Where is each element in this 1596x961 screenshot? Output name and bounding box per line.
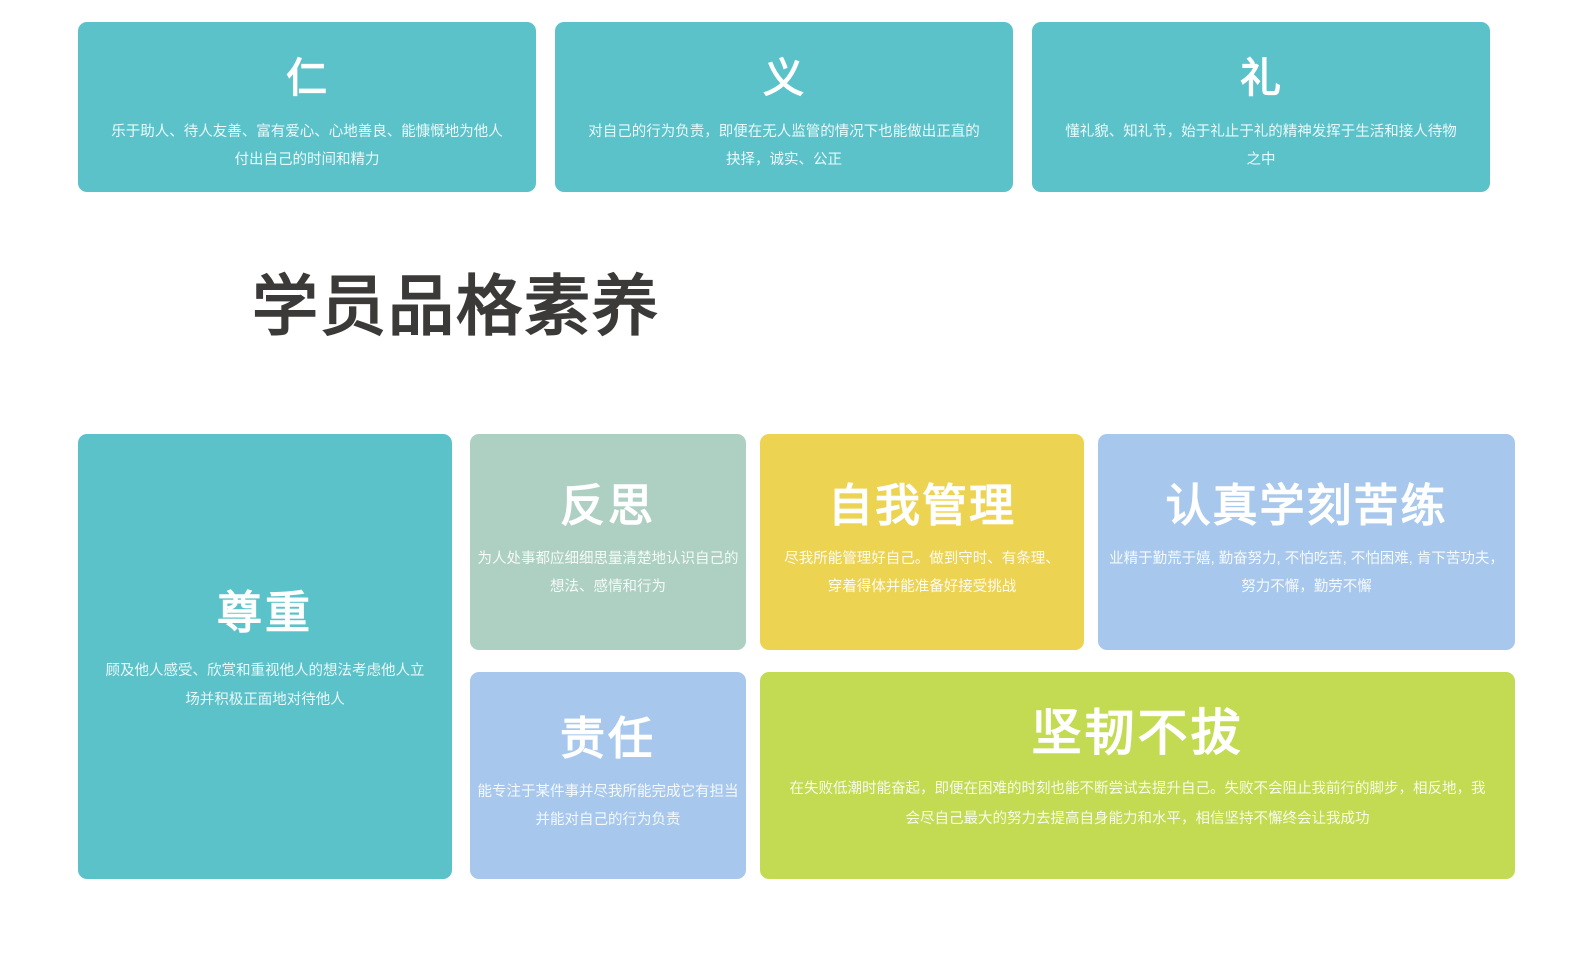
- quality-card-grid: 尊重 顾及他人感受、欣赏和重视他人的想法考虑他人立场并积极正面地对待他人 反思 …: [78, 434, 1515, 879]
- quality-description: 能专注于某件事并尽我所能完成它有担当并能对自己的行为负责: [477, 778, 739, 834]
- quality-title: 认真学刻苦练: [1165, 483, 1447, 528]
- quality-title: 责任: [560, 716, 656, 761]
- quality-description: 在失败低潮时能奋起，即便在困难的时刻也能不断尝试去提升自己。失败不会阻止我前行的…: [788, 774, 1488, 834]
- virtue-title: 礼: [1240, 58, 1282, 99]
- virtue-description: 乐于助人、待人友善、富有爱心、心地善良、能慷慨地为他人付出自己的时间和精力: [109, 118, 505, 174]
- quality-title: 反思: [560, 483, 656, 528]
- quality-card-perseverance[interactable]: 坚韧不拔 在失败低潮时能奋起，即便在困难的时刻也能不断尝试去提升自己。失败不会阻…: [760, 672, 1515, 879]
- quality-description: 为人处事都应细细思量清楚地认识自己的想法、感情和行为: [477, 545, 739, 601]
- quality-card-respect[interactable]: 尊重 顾及他人感受、欣赏和重视他人的想法考虑他人立场并积极正面地对待他人: [78, 434, 452, 879]
- virtue-title: 仁: [286, 58, 328, 99]
- quality-title: 尊重: [217, 590, 313, 635]
- poster-root: 仁 乐于助人、待人友善、富有爱心、心地善良、能慷慨地为他人付出自己的时间和精力 …: [0, 0, 1596, 961]
- quality-description: 业精于勤荒于嬉, 勤奋努力, 不怕吃苦, 不怕困难, 肯下苦功夫，努力不懈，勤劳…: [1107, 545, 1507, 601]
- quality-title: 坚韧不拔: [1032, 708, 1244, 758]
- virtue-description: 懂礼貌、知礼节，始于礼止于礼的精神发挥于生活和接人待物之中: [1063, 118, 1459, 174]
- quality-card-study-hard[interactable]: 认真学刻苦练 业精于勤荒于嬉, 勤奋努力, 不怕吃苦, 不怕困难, 肯下苦功夫，…: [1098, 434, 1515, 650]
- virtue-card-row: 仁 乐于助人、待人友善、富有爱心、心地善良、能慷慨地为他人付出自己的时间和精力 …: [78, 22, 1490, 192]
- quality-description: 顾及他人感受、欣赏和重视他人的想法考虑他人立场并积极正面地对待他人: [100, 657, 430, 715]
- virtue-card-yi[interactable]: 义 对自己的行为负责，即便在无人监管的情况下也能做出正直的抉择，诚实、公正: [555, 22, 1013, 192]
- quality-title: 自我管理: [828, 483, 1016, 528]
- virtue-card-ren[interactable]: 仁 乐于助人、待人友善、富有爱心、心地善良、能慷慨地为他人付出自己的时间和精力: [78, 22, 536, 192]
- virtue-title: 义: [763, 58, 805, 99]
- quality-card-responsibility[interactable]: 责任 能专注于某件事并尽我所能完成它有担当并能对自己的行为负责: [470, 672, 746, 879]
- quality-card-reflection[interactable]: 反思 为人处事都应细细思量清楚地认识自己的想法、感情和行为: [470, 434, 746, 650]
- virtue-description: 对自己的行为负责，即便在无人监管的情况下也能做出正直的抉择，诚实、公正: [586, 118, 982, 174]
- quality-description: 尽我所能管理好自己。做到守时、有条理、穿着得体并能准备好接受挑战: [780, 545, 1064, 601]
- section-heading: 学员品格素养: [252, 272, 660, 341]
- virtue-card-li[interactable]: 礼 懂礼貌、知礼节，始于礼止于礼的精神发挥于生活和接人待物之中: [1032, 22, 1490, 192]
- quality-card-self-management[interactable]: 自我管理 尽我所能管理好自己。做到守时、有条理、穿着得体并能准备好接受挑战: [760, 434, 1084, 650]
